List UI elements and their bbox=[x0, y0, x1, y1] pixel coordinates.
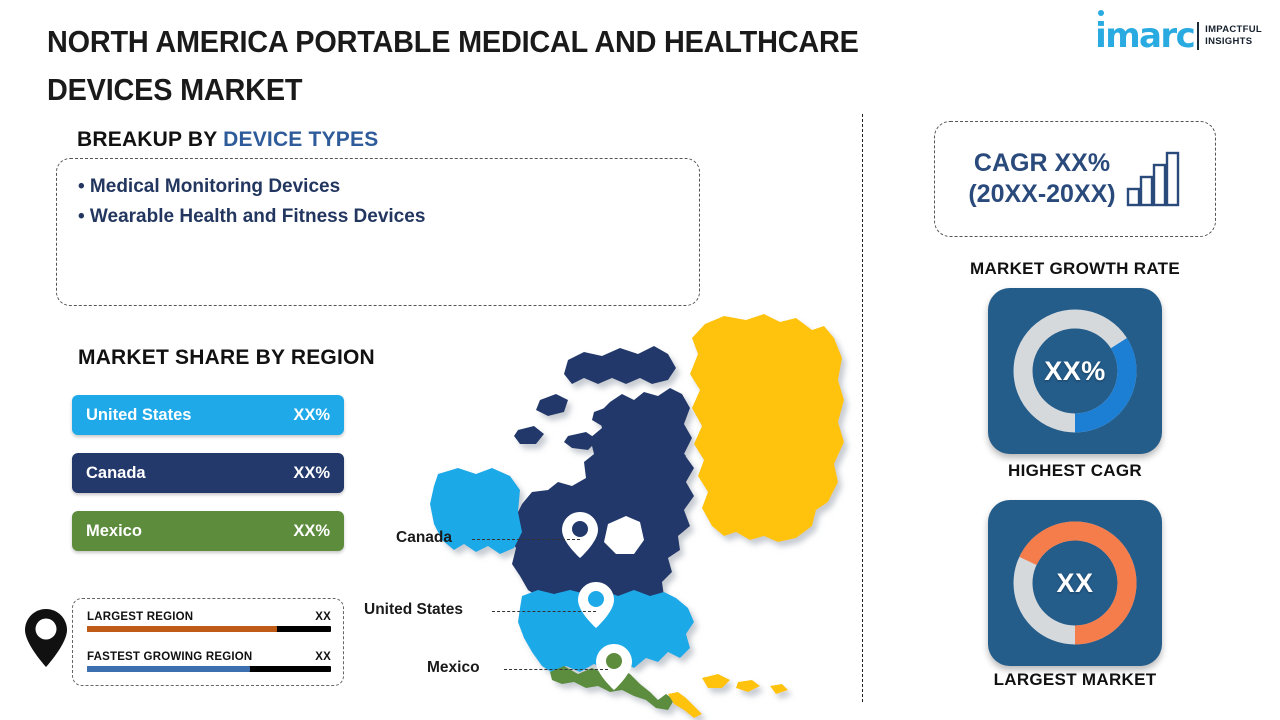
list-item: • Medical Monitoring Devices bbox=[78, 172, 425, 202]
market-growth-rate-caption: MARKET GROWTH RATE bbox=[934, 259, 1216, 279]
largest-region-label: LARGEST REGION bbox=[87, 611, 193, 623]
largest-region-fill bbox=[87, 626, 277, 632]
fastest-growing-region-label: FASTEST GROWING REGION bbox=[87, 651, 252, 663]
cagr-line1: CAGR XX% bbox=[968, 148, 1115, 179]
region-bar-label: Canada bbox=[86, 464, 146, 483]
largest-region-track bbox=[87, 626, 331, 632]
breakup-list: • Medical Monitoring Devices • Wearable … bbox=[78, 172, 425, 232]
highest-cagr-donut: XX% bbox=[1009, 305, 1141, 437]
highest-cagr-value: XX% bbox=[1009, 305, 1141, 437]
logo-divider bbox=[1197, 22, 1199, 50]
largest-region-row: LARGEST REGION XX bbox=[87, 611, 331, 632]
largest-market-caption: LARGEST MARKET bbox=[934, 670, 1216, 690]
region-bar-label: United States bbox=[86, 406, 191, 425]
breakup-heading-plain: BREAKUP BY bbox=[77, 128, 223, 151]
logo-tagline-line1: IMPACTFUL bbox=[1205, 24, 1262, 36]
largest-market-value: XX bbox=[1009, 517, 1141, 649]
region-bar-value: XX% bbox=[293, 464, 330, 483]
map-pin-icon bbox=[24, 608, 68, 668]
list-item: • Wearable Health and Fitness Devices bbox=[78, 202, 425, 232]
logo-tagline-line2: INSIGHTS bbox=[1205, 36, 1262, 48]
market-share-heading: MARKET SHARE BY REGION bbox=[78, 346, 375, 370]
breakup-heading-accent: DEVICE TYPES bbox=[223, 128, 378, 151]
fastest-growing-region-value: XX bbox=[315, 651, 331, 663]
cagr-text: CAGR XX% (20XX-20XX) bbox=[968, 148, 1115, 210]
leader-line-mexico bbox=[504, 669, 608, 670]
leader-line-canada bbox=[472, 539, 580, 540]
map-label-mexico: Mexico bbox=[427, 659, 480, 677]
breakup-heading: BREAKUP BY DEVICE TYPES bbox=[77, 128, 378, 152]
largest-market-donut: XX bbox=[1009, 517, 1141, 649]
highest-cagr-card[interactable]: XX% bbox=[988, 288, 1162, 454]
region-stats-card: LARGEST REGION XX FASTEST GROWING REGION… bbox=[72, 598, 344, 686]
vertical-divider bbox=[862, 114, 863, 702]
logo-tagline: IMPACTFUL INSIGHTS bbox=[1205, 24, 1262, 48]
north-america-map bbox=[372, 296, 872, 720]
page-title: NORTH AMERICA PORTABLE MEDICAL AND HEALT… bbox=[47, 18, 940, 114]
bar-chart-icon bbox=[1126, 151, 1182, 207]
fastest-growing-region-fill bbox=[87, 666, 250, 672]
market-growth-rate-box: CAGR XX% (20XX-20XX) bbox=[934, 121, 1216, 237]
region-bar-value: XX% bbox=[293, 406, 330, 425]
largest-region-value: XX bbox=[315, 611, 331, 623]
region-bar-value: XX% bbox=[293, 522, 330, 541]
map-label-canada: Canada bbox=[396, 529, 452, 547]
map-label-united-states: United States bbox=[364, 601, 463, 619]
highest-cagr-caption: HIGHEST CAGR bbox=[934, 461, 1216, 481]
map-region-greenland bbox=[690, 314, 844, 542]
leader-line-united-states bbox=[492, 611, 596, 612]
logo-wordmark: imarc bbox=[1095, 19, 1194, 53]
region-bar-canada[interactable]: Canada XX% bbox=[72, 453, 344, 493]
region-bar-label: Mexico bbox=[86, 522, 142, 541]
region-bar-united-states[interactable]: United States XX% bbox=[72, 395, 344, 435]
logo-wordmark-text: imarc bbox=[1095, 16, 1194, 56]
fastest-growing-region-track bbox=[87, 666, 331, 672]
largest-market-card[interactable]: XX bbox=[988, 500, 1162, 666]
infographic-canvas: NORTH AMERICA PORTABLE MEDICAL AND HEALT… bbox=[0, 0, 1280, 720]
fastest-growing-region-row: FASTEST GROWING REGION XX bbox=[87, 651, 331, 672]
imarc-logo: imarc IMPACTFUL INSIGHTS bbox=[1095, 14, 1262, 58]
region-bar-mexico[interactable]: Mexico XX% bbox=[72, 511, 344, 551]
map-region-central-america bbox=[668, 674, 788, 718]
cagr-line2: (20XX-20XX) bbox=[968, 179, 1115, 210]
